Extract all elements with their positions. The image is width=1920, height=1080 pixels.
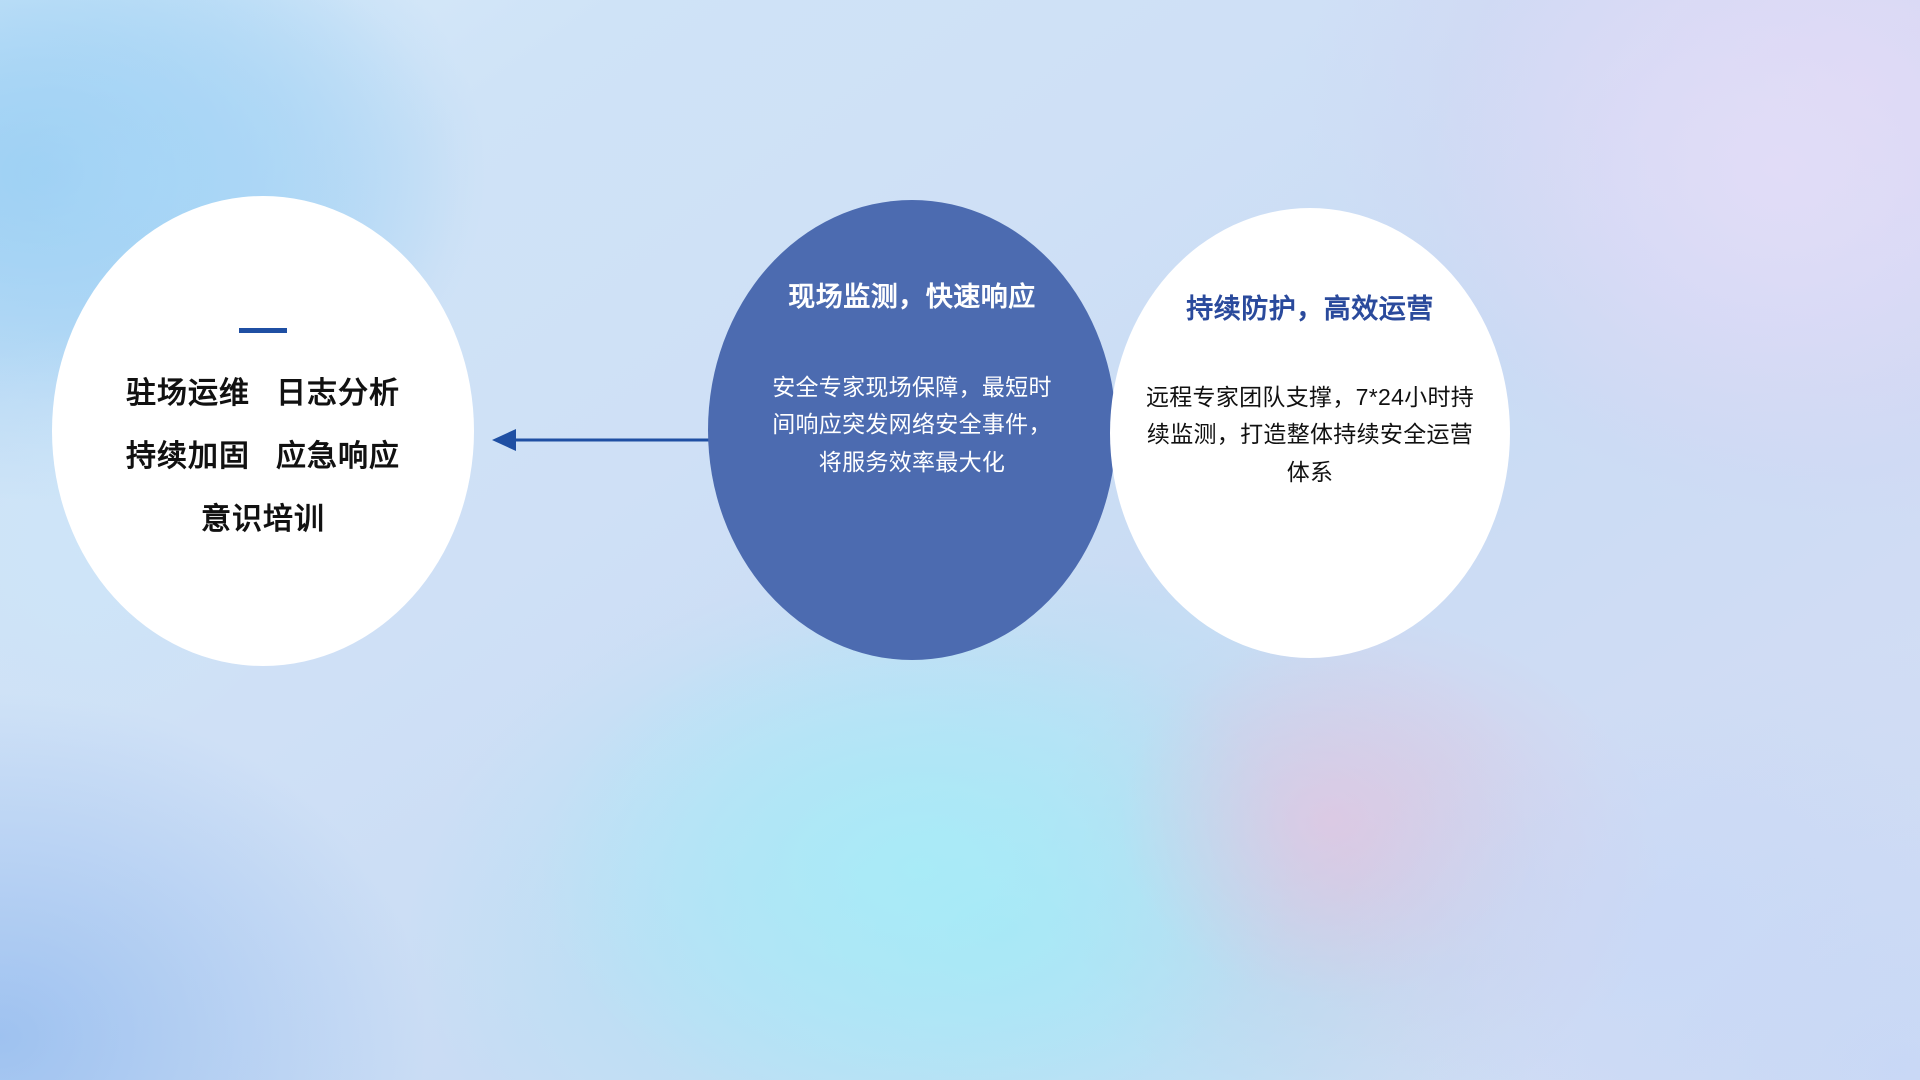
keyword-driving-ops: 驻场运维 bbox=[126, 377, 250, 410]
background-glow-center-bottom bbox=[540, 610, 1300, 1080]
slide-canvas: 驻场运维日志分析 持续加固应急响应 意识培训 现场监测，快速响应 安全专家现场保… bbox=[0, 0, 1920, 1080]
middle-circle-body: 安全专家现场保障，最短时间响应突发网络安全事件，将服务效率最大化 bbox=[762, 369, 1062, 481]
keyword-continuous-hardening: 持续加固 bbox=[126, 440, 250, 473]
right-circle-title: 持续防护，高效运营 bbox=[1186, 296, 1434, 323]
keyword-emergency-response: 应急响应 bbox=[276, 440, 400, 473]
middle-circle-title: 现场监测，快速响应 bbox=[788, 284, 1036, 311]
keyword-row-2: 持续加固应急响应 bbox=[126, 442, 400, 472]
right-circle-body: 远程专家团队支撑，7*24小时持续监测，打造整体持续安全运营体系 bbox=[1140, 379, 1480, 491]
dash-divider-icon bbox=[239, 328, 287, 333]
connector-arrow bbox=[488, 418, 718, 462]
left-keyword-circle: 驻场运维日志分析 持续加固应急响应 意识培训 bbox=[52, 196, 474, 666]
background-glow-bottom-right bbox=[1340, 700, 1920, 1080]
keyword-awareness-training: 意识培训 bbox=[201, 505, 325, 535]
middle-blue-circle: 现场监测，快速响应 安全专家现场保障，最短时间响应突发网络安全事件，将服务效率最… bbox=[708, 200, 1116, 660]
right-white-circle: 持续防护，高效运营 远程专家团队支撑，7*24小时持续监测，打造整体持续安全运营… bbox=[1110, 208, 1510, 658]
keyword-row-1: 驻场运维日志分析 bbox=[126, 379, 400, 409]
keyword-log-analysis: 日志分析 bbox=[276, 377, 400, 410]
background-glow-pink bbox=[1120, 640, 1540, 1000]
